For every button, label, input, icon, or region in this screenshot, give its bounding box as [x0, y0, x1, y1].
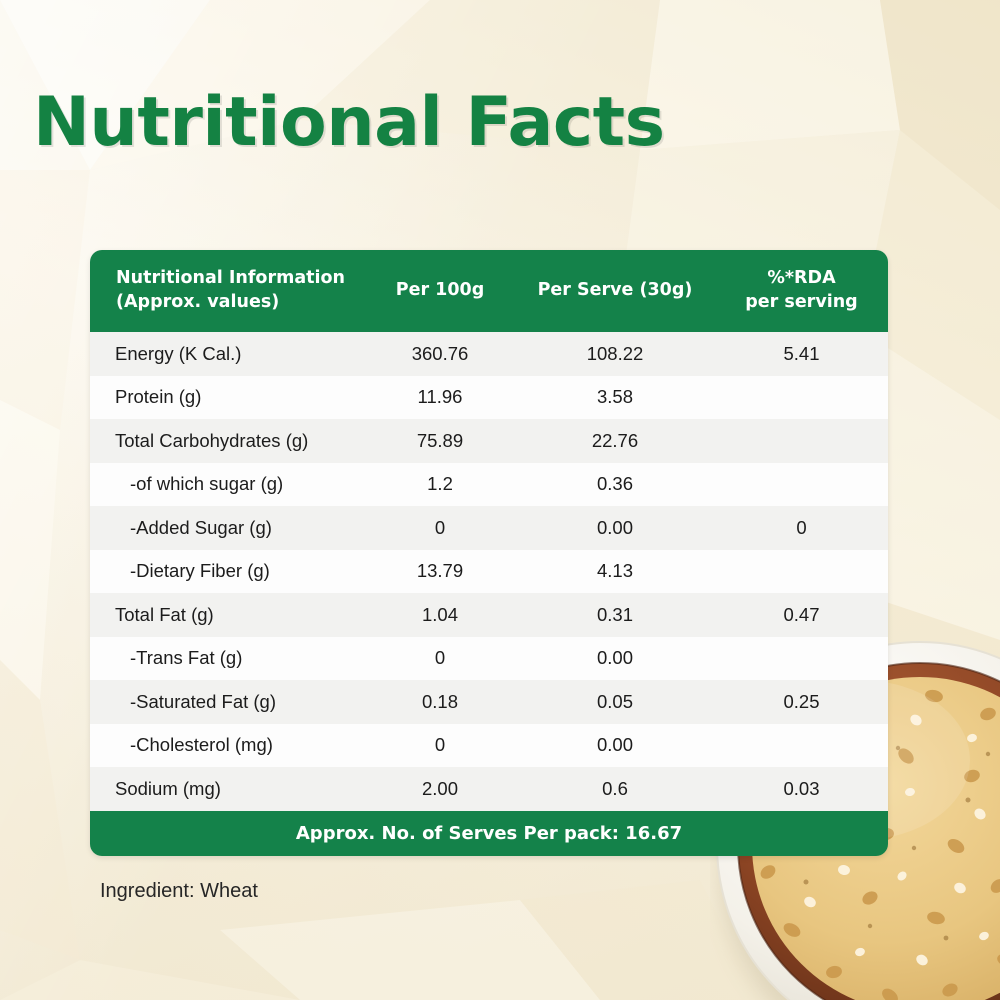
row-label: -Cholesterol (mg) — [90, 734, 365, 756]
row-value-per-100g: 0 — [365, 734, 515, 756]
row-value-per-serve: 0.00 — [515, 517, 715, 539]
row-value-per-serve: 22.76 — [515, 430, 715, 452]
row-value-per-100g: 1.04 — [365, 604, 515, 626]
table-row: Sodium (mg)2.000.60.03 — [90, 767, 888, 811]
row-value-rda: 0.25 — [715, 691, 888, 713]
row-label: Energy (K Cal.) — [90, 343, 365, 365]
row-label: -Trans Fat (g) — [90, 647, 365, 669]
row-label: -of which sugar (g) — [90, 473, 365, 495]
header-rda-line1: %*RDA — [715, 267, 888, 291]
nutrition-table: Nutritional Information (Approx. values)… — [90, 250, 888, 856]
table-row: Protein (g)11.963.58 — [90, 376, 888, 420]
table-body: Energy (K Cal.)360.76108.225.41Protein (… — [90, 332, 888, 811]
nutrition-label-page: Nutritional Facts Nutritional Informatio… — [0, 0, 1000, 1000]
table-row: -Cholesterol (mg)00.00 — [90, 724, 888, 768]
row-value-per-serve: 0.31 — [515, 604, 715, 626]
row-label: Protein (g) — [90, 386, 365, 408]
table-row: -Added Sugar (g)00.000 — [90, 506, 888, 550]
row-value-per-100g: 0 — [365, 647, 515, 669]
row-label: -Dietary Fiber (g) — [90, 560, 365, 582]
row-value-per-100g: 1.2 — [365, 473, 515, 495]
row-label: Total Fat (g) — [90, 604, 365, 626]
row-value-per-serve: 0.00 — [515, 734, 715, 756]
table-row: Energy (K Cal.)360.76108.225.41 — [90, 332, 888, 376]
row-value-per-100g: 0.18 — [365, 691, 515, 713]
table-row: -of which sugar (g)1.20.36 — [90, 463, 888, 507]
row-label: -Added Sugar (g) — [90, 517, 365, 539]
table-row: -Trans Fat (g)00.00 — [90, 637, 888, 681]
row-value-per-serve: 0.36 — [515, 473, 715, 495]
row-value-per-serve: 0.6 — [515, 778, 715, 800]
row-value-per-serve: 3.58 — [515, 386, 715, 408]
row-label: Total Carbohydrates (g) — [90, 430, 365, 452]
row-value-per-100g: 75.89 — [365, 430, 515, 452]
header-per-100g: Per 100g — [365, 279, 515, 303]
row-value-per-serve: 0.05 — [515, 691, 715, 713]
row-value-per-100g: 13.79 — [365, 560, 515, 582]
ingredient-text: Ingredient: Wheat — [100, 880, 258, 903]
header-name-line1: Nutritional Information — [116, 267, 365, 291]
row-value-rda: 0.03 — [715, 778, 888, 800]
row-value-rda: 0 — [715, 517, 888, 539]
page-title: Nutritional Facts — [33, 83, 665, 162]
table-header-row: Nutritional Information (Approx. values)… — [90, 250, 888, 332]
row-value-per-100g: 0 — [365, 517, 515, 539]
row-value-per-serve: 0.00 — [515, 647, 715, 669]
table-row: Total Fat (g)1.040.310.47 — [90, 593, 888, 637]
header-per-serve: Per Serve (30g) — [515, 279, 715, 303]
table-footer-serves: Approx. No. of Serves Per pack: 16.67 — [90, 811, 888, 856]
row-label: Sodium (mg) — [90, 778, 365, 800]
row-value-per-serve: 108.22 — [515, 343, 715, 365]
row-value-rda: 5.41 — [715, 343, 888, 365]
row-label: -Saturated Fat (g) — [90, 691, 365, 713]
header-rda-line2: per serving — [715, 291, 888, 315]
row-value-per-serve: 4.13 — [515, 560, 715, 582]
header-rda: %*RDA per serving — [715, 267, 888, 314]
header-name-line2: (Approx. values) — [116, 291, 365, 315]
row-value-per-100g: 2.00 — [365, 778, 515, 800]
row-value-rda: 0.47 — [715, 604, 888, 626]
row-value-per-100g: 11.96 — [365, 386, 515, 408]
table-row: Total Carbohydrates (g)75.8922.76 — [90, 419, 888, 463]
table-row: -Saturated Fat (g)0.180.050.25 — [90, 680, 888, 724]
header-nutritional-information: Nutritional Information (Approx. values) — [90, 267, 365, 314]
table-row: -Dietary Fiber (g)13.794.13 — [90, 550, 888, 594]
row-value-per-100g: 360.76 — [365, 343, 515, 365]
